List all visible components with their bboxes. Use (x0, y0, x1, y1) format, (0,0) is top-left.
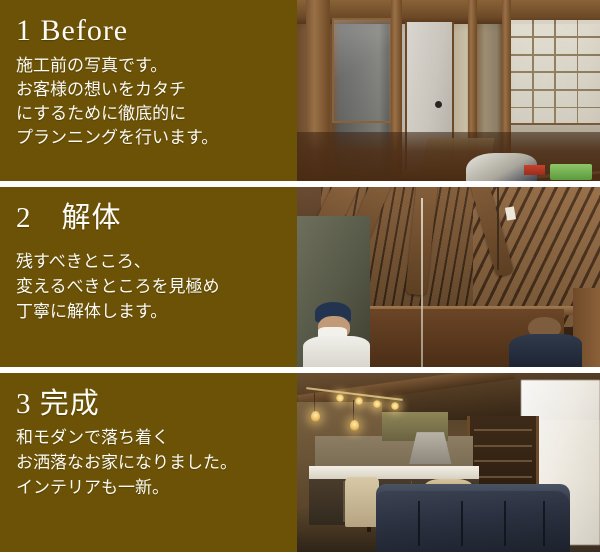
track-light-bulb (373, 400, 381, 408)
worker-body (509, 334, 582, 367)
step-1-body-line: 施工前の写真です。 (16, 54, 297, 78)
step-3-title: 3 完成 (16, 385, 297, 423)
step-1-body-line: お客様の想いをカタチ (16, 78, 297, 102)
hanging-cord (421, 198, 423, 367)
reform-steps-infographic: 1 Before 施工前の写真です。 お客様の想いをカタチ にするために徹底的に… (0, 0, 600, 553)
step-3-body-line: 和モダンで落ち着く (16, 425, 297, 450)
hanging-cord (497, 187, 499, 270)
step-3-body-line: お洒落なお家になりました。 (16, 450, 297, 475)
step-1-text-column: 1 Before 施工前の写真です。 お客様の想いをカタチ にするために徹底的に… (0, 0, 297, 181)
step-3-photo-column (297, 373, 600, 552)
step-2-text-column: 2 解体 残すべきところ、 変えるべきところを見極め 丁寧に解体します。 (0, 187, 297, 367)
step-2-title: 2 解体 (16, 199, 297, 237)
pendant-wire (353, 400, 354, 421)
step-2-body-line: 残すべきところ、 (16, 249, 297, 274)
glass-sliding-door (332, 18, 393, 123)
shoji-screen (511, 20, 600, 123)
clutter-area (464, 141, 600, 181)
worker-with-mask (303, 302, 370, 367)
green-basket (550, 164, 592, 181)
leather-sofa (376, 491, 570, 552)
track-light-bulb (355, 397, 363, 405)
step-1-title: 1 Before (16, 12, 297, 50)
red-box (524, 165, 546, 175)
second-worker (509, 317, 582, 367)
step-2-body: 残すべきところ、 変えるべきところを見極め 丁寧に解体します。 (14, 249, 297, 324)
step-1-photo-column (297, 0, 600, 181)
step-1-body-line: にするために徹底的に (16, 102, 297, 126)
step-1-body-line: プランニングを行います。 (16, 126, 297, 150)
step-3-body: 和モダンで落ち着く お洒落なお家になりました。 インテリアも一新。 (14, 425, 297, 500)
after-photo (297, 373, 600, 552)
step-3-body-line: インテリアも一新。 (16, 475, 297, 500)
step-3-text-column: 3 完成 和モダンで落ち着く お洒落なお家になりました。 インテリアも一新。 (0, 373, 297, 552)
track-light-bulb (391, 402, 399, 410)
demolition-photo (297, 187, 600, 367)
pendant-lamp (350, 420, 359, 431)
pendant-lamp (311, 411, 320, 422)
pendant-wire (314, 393, 315, 413)
worker-body (303, 336, 370, 367)
kitchen-counter-top (309, 466, 479, 479)
step-panel-1: 1 Before 施工前の写真です。 お客様の想いをカタチ にするために徹底的に… (0, 0, 600, 181)
step-1-body: 施工前の写真です。 お客様の想いをカタチ にするために徹底的に プランニングを行… (14, 54, 297, 150)
step-2-photo-column (297, 187, 600, 367)
step-2-body-line: 変えるべきところを見極め (16, 274, 297, 299)
dining-chair (345, 477, 378, 527)
step-panel-3: 3 完成 和モダンで落ち着く お洒落なお家になりました。 インテリアも一新。 (0, 373, 600, 552)
step-panel-2: 2 解体 残すべきところ、 変えるべきところを見極め 丁寧に解体します。 (0, 187, 600, 367)
before-photo (297, 0, 600, 181)
step-2-body-line: 丁寧に解体します。 (16, 299, 297, 324)
